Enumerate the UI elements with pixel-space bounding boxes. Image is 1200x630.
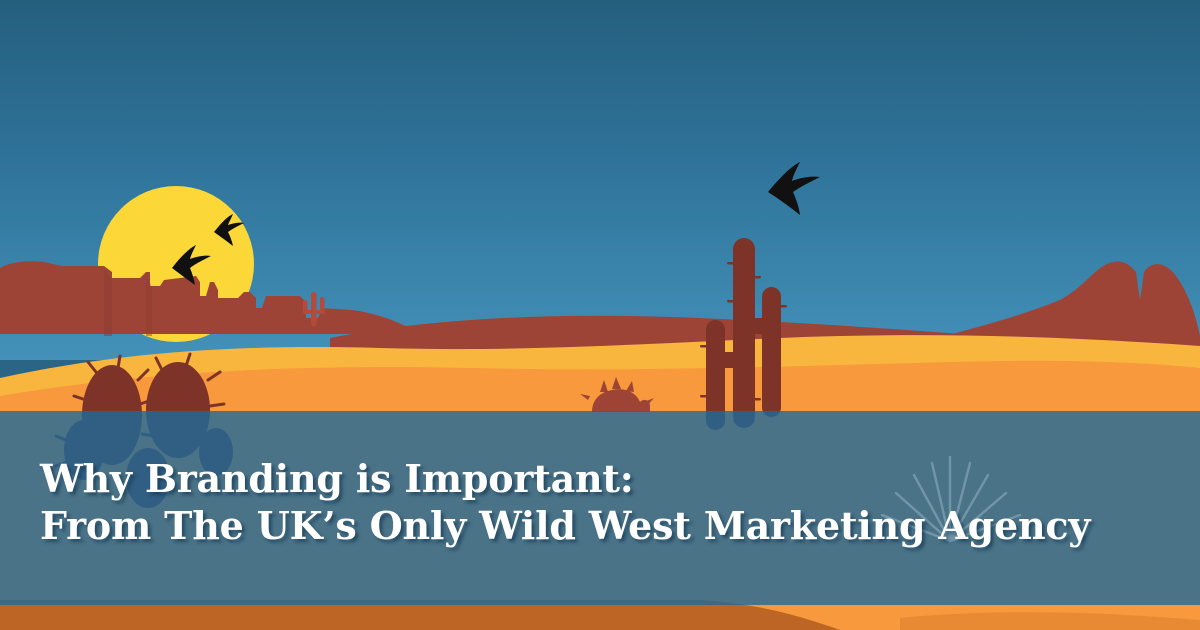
mesa-cleft-1: [104, 268, 112, 336]
share-card: Why Branding is Important: From The UK’s…: [0, 0, 1200, 630]
headline-line-1: Why Branding is Important:: [40, 455, 1140, 502]
headline-line-2: From The UK’s Only Wild West Marketing A…: [40, 502, 1140, 549]
headline: Why Branding is Important: From The UK’s…: [40, 455, 1140, 549]
